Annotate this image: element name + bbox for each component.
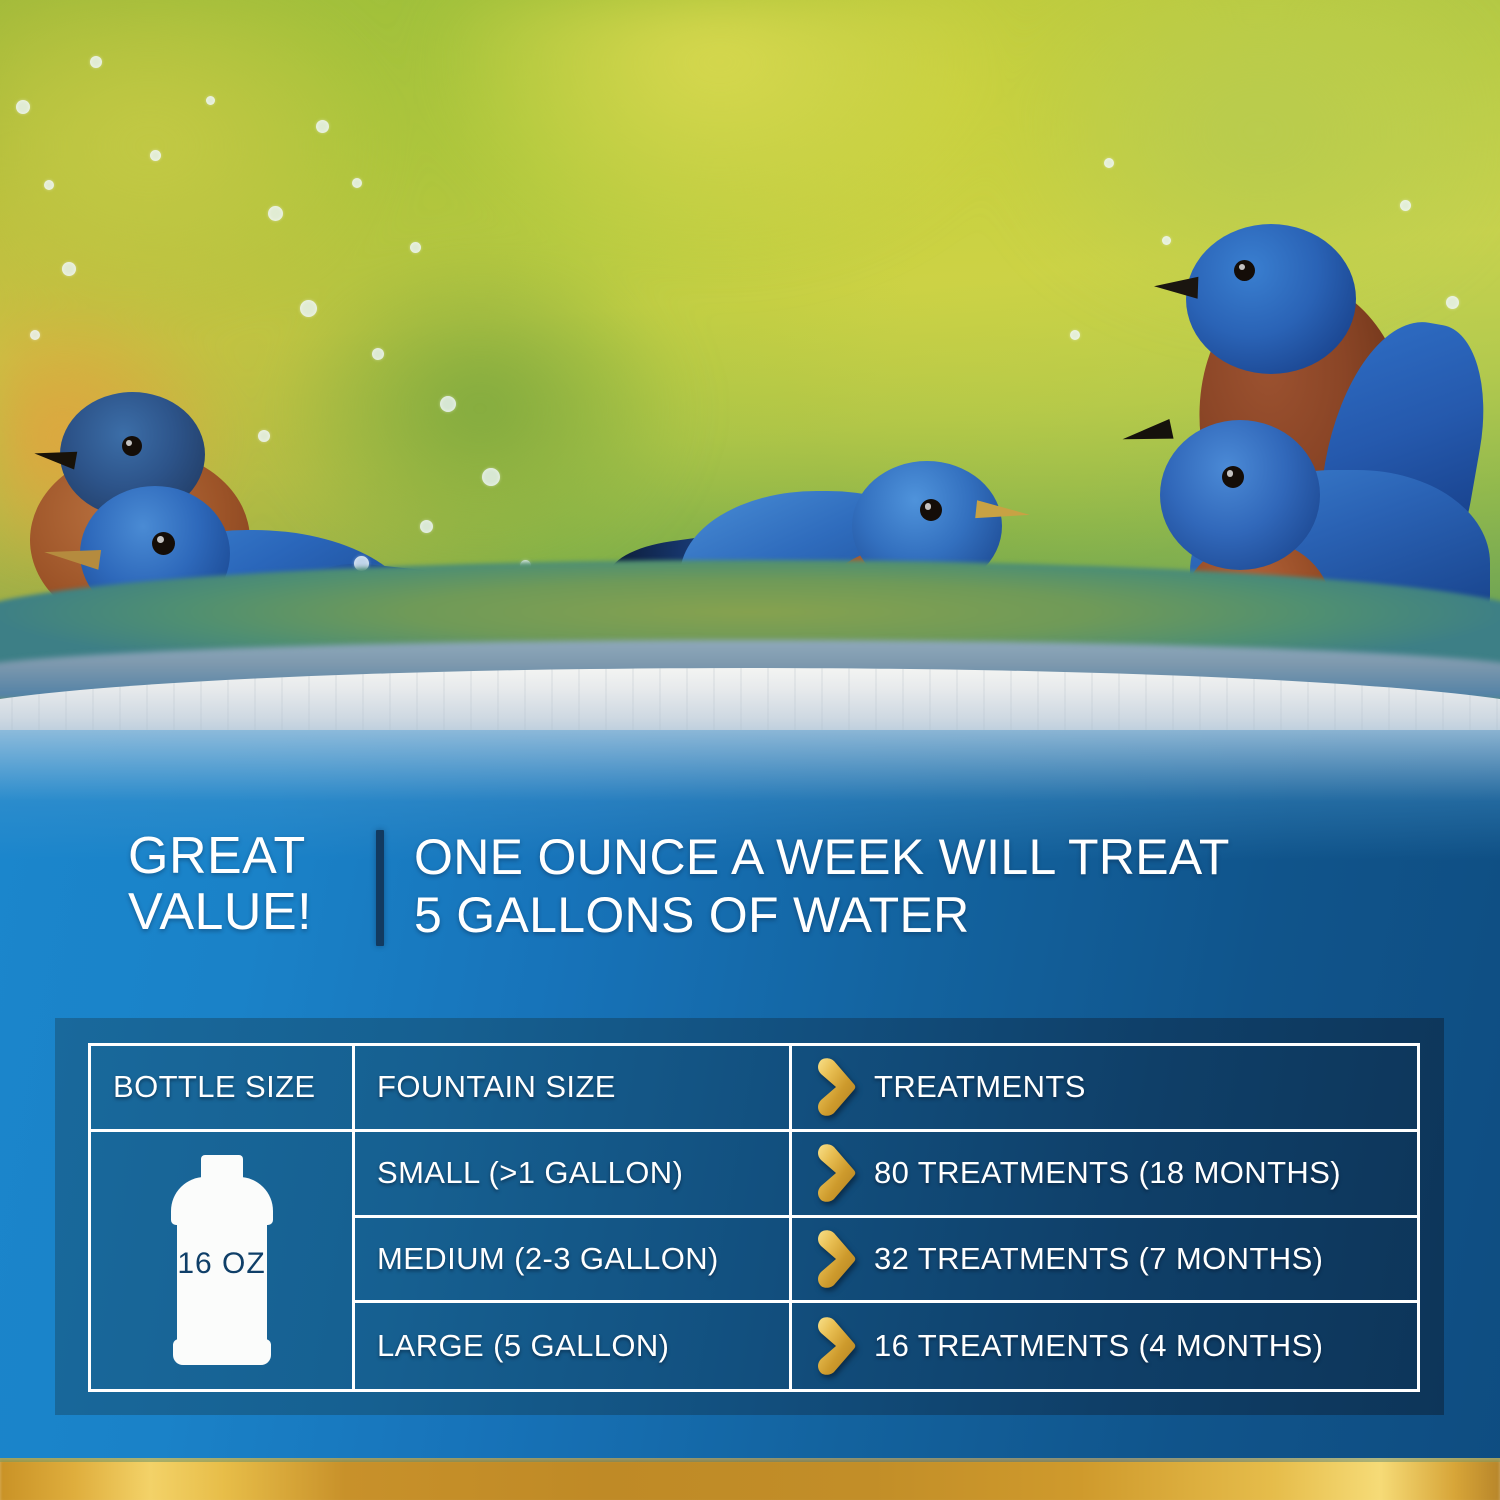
water-droplet <box>1446 296 1459 309</box>
water-droplet <box>90 56 102 68</box>
product-infographic: GREAT VALUE! ONE OUNCE A WEEK WILL TREAT… <box>0 0 1500 1500</box>
bottle-size-label: 16 OZ <box>163 1247 281 1281</box>
table-header-treatments-label: TREATMENTS <box>874 1069 1086 1105</box>
dosage-text: ONE OUNCE A WEEK WILL TREAT 5 GALLONS OF… <box>414 828 1230 944</box>
water-droplet <box>300 300 317 317</box>
gold-footer-bar <box>0 1458 1500 1500</box>
water-droplet <box>30 330 40 340</box>
table-row: 32 TREATMENTS (7 MONTHS) <box>792 1218 1417 1304</box>
treatments-value: 16 TREATMENTS (4 MONTHS) <box>874 1328 1323 1364</box>
bird-head <box>1186 224 1356 374</box>
water-droplet <box>372 348 384 360</box>
great-value-text: GREAT VALUE! <box>128 828 368 940</box>
table-header-fountain-size-label: FOUNTAIN SIZE <box>377 1069 616 1105</box>
gold-chevron-icon <box>814 1144 858 1202</box>
water-droplet <box>1070 330 1080 340</box>
gold-chevron-icon <box>814 1058 858 1116</box>
water-droplet <box>316 120 329 133</box>
table-header-fountain-size: FOUNTAIN SIZE <box>355 1046 792 1132</box>
water-droplet <box>1162 236 1171 245</box>
water-droplet <box>150 150 161 161</box>
table-header-bottle-size-label: BOTTLE SIZE <box>113 1069 316 1105</box>
bird-head <box>1160 420 1320 570</box>
water-droplet <box>268 206 283 221</box>
fountain-size-value: LARGE (5 GALLON) <box>377 1328 669 1364</box>
treatments-value: 80 TREATMENTS (18 MONTHS) <box>874 1155 1341 1191</box>
table-header-treatments: TREATMENTS <box>792 1046 1417 1132</box>
water-droplet <box>1104 158 1114 168</box>
bottle-icon: 16 OZ <box>163 1155 281 1365</box>
bird-eye <box>1234 260 1255 281</box>
water-droplet <box>206 96 215 105</box>
headline-block: GREAT VALUE! ONE OUNCE A WEEK WILL TREAT… <box>128 828 1230 946</box>
gold-chevron-icon <box>814 1230 858 1288</box>
bird-bath-photo <box>0 0 1500 730</box>
water-droplet <box>62 262 76 276</box>
headline-divider <box>376 830 384 946</box>
water-droplet <box>440 396 456 412</box>
table-row: SMALL (>1 GALLON) <box>355 1132 792 1218</box>
dosage-table-grid: BOTTLE SIZE FOUNTAIN SIZE <box>88 1043 1420 1392</box>
table-row: LARGE (5 GALLON) <box>355 1303 792 1389</box>
fountain-size-value: SMALL (>1 GALLON) <box>377 1155 683 1191</box>
table-row: 80 TREATMENTS (18 MONTHS) <box>792 1132 1417 1218</box>
table-header-bottle-size: BOTTLE SIZE <box>91 1046 355 1132</box>
bird-beak <box>1154 275 1199 299</box>
water-droplet <box>420 520 433 533</box>
water-droplet <box>258 430 270 442</box>
dosage-table: BOTTLE SIZE FOUNTAIN SIZE <box>55 1018 1444 1415</box>
table-row: MEDIUM (2-3 GALLON) <box>355 1218 792 1304</box>
bird-eye <box>1222 466 1244 488</box>
bottle-size-cell: 16 OZ <box>91 1132 355 1389</box>
water-droplet <box>410 242 421 253</box>
water-droplet <box>352 178 362 188</box>
treatments-value: 32 TREATMENTS (7 MONTHS) <box>874 1241 1323 1277</box>
fountain-size-value: MEDIUM (2-3 GALLON) <box>377 1241 719 1277</box>
water-droplet <box>1400 200 1411 211</box>
bird-eye <box>920 499 942 521</box>
gold-chevron-icon <box>814 1317 858 1375</box>
water-droplet <box>44 180 54 190</box>
bird-eye <box>152 532 175 555</box>
bird-eye <box>122 436 142 456</box>
water-droplet <box>482 468 500 486</box>
water-droplet <box>16 100 30 114</box>
table-row: 16 TREATMENTS (4 MONTHS) <box>792 1303 1417 1389</box>
bottle-base <box>173 1339 271 1365</box>
